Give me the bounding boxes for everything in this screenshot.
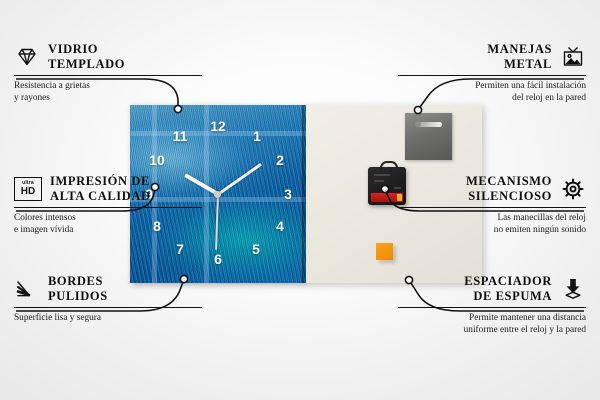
gear-icon xyxy=(560,176,586,202)
callout-mecanismo-silencioso: MECANISMO SILENCIOSO Las manecillas del … xyxy=(398,174,586,236)
callout-vidrio-templado: VIDRIO TEMPLADO Resistencia a grietas y … xyxy=(14,42,202,104)
callout-title-line2: DE ESPUMA xyxy=(464,289,552,304)
minute-hand xyxy=(217,163,261,195)
ultra-hd-badge-icon: ultra HD xyxy=(14,177,42,201)
clock-numeral-12: 12 xyxy=(210,119,226,133)
foam-spacer xyxy=(376,243,393,260)
clock-numeral-6: 6 xyxy=(210,252,226,266)
clock-numeral-1: 1 xyxy=(249,129,265,143)
hanger-keyhole-slot xyxy=(416,122,442,127)
callout-manejas-metal: MANEJAS METAL Permiten una fácil instala… xyxy=(398,42,586,104)
callout-espaciador-espuma: ESPACIADOR DE ESPUMA Permite mantener un… xyxy=(398,274,586,336)
callout-header: VIDRIO TEMPLADO xyxy=(14,42,202,72)
callout-title-line2: TEMPLADO xyxy=(48,57,125,72)
hand-center-cap xyxy=(214,191,221,198)
clock-numeral-2: 2 xyxy=(272,153,288,167)
callout-impresion-alta-calidad: ultra HD IMPRESIÓN DE ALTA CALIDAD Color… xyxy=(14,174,202,236)
callout-title-line1: ESPACIADOR xyxy=(464,274,552,289)
callout-header: ultra HD IMPRESIÓN DE ALTA CALIDAD xyxy=(14,174,202,204)
mechanism-hanging-loop xyxy=(380,161,398,171)
callout-title-line1: IMPRESIÓN DE xyxy=(50,174,151,189)
clock-numeral-5: 5 xyxy=(248,242,264,256)
callout-title: MANEJAS METAL xyxy=(487,42,552,72)
callout-header: MECANISMO SILENCIOSO xyxy=(398,174,586,204)
product-infographic: 12 1 2 3 4 5 6 7 8 9 10 11 xyxy=(0,0,600,400)
pattern-gridline xyxy=(204,105,209,283)
mechanism-detail xyxy=(374,180,384,182)
callout-title: ESPACIADOR DE ESPUMA xyxy=(464,274,552,304)
callout-divider xyxy=(398,75,586,76)
callout-title-line1: BORDES xyxy=(48,274,108,289)
clock-numeral-4: 4 xyxy=(272,219,288,233)
callout-description: Colores intensos e imagen vívida xyxy=(14,212,202,237)
picture-frame-icon xyxy=(560,44,586,70)
callout-description: Permite mantener una distancia uniforme … xyxy=(398,312,586,337)
diamond-icon xyxy=(14,44,40,70)
callout-header: MANEJAS METAL xyxy=(398,42,586,72)
clock-numeral-3: 3 xyxy=(280,187,296,201)
callout-description: Resistencia a grietas y rayones xyxy=(14,80,202,105)
callout-description: Permiten una fácil instalación del reloj… xyxy=(398,80,586,105)
badge-ultra-text: ultra xyxy=(22,181,34,186)
clock-numeral-10: 10 xyxy=(149,153,165,167)
callout-divider xyxy=(398,307,586,308)
polished-edges-icon xyxy=(14,276,40,302)
second-hand xyxy=(215,194,218,250)
callout-title: BORDES PULIDOS xyxy=(48,274,108,304)
callout-title: IMPRESIÓN DE ALTA CALIDAD xyxy=(50,174,151,204)
callout-divider xyxy=(14,75,202,76)
callout-divider xyxy=(398,207,586,208)
callout-title: VIDRIO TEMPLADO xyxy=(48,42,125,72)
callout-bordes-pulidos: BORDES PULIDOS Superficie lisa y segura xyxy=(14,274,202,324)
callout-description: Superficie lisa y segura xyxy=(14,312,202,324)
callout-header: BORDES PULIDOS xyxy=(14,274,202,304)
callout-divider xyxy=(14,207,202,208)
callout-title-line1: MECANISMO xyxy=(466,174,552,189)
clock-numeral-7: 7 xyxy=(172,242,188,256)
callout-title-line2: SILENCIOSO xyxy=(466,189,552,204)
callout-header: ESPACIADOR DE ESPUMA xyxy=(398,274,586,304)
callout-title-line1: MANEJAS xyxy=(487,42,552,57)
badge-hd-text: HD xyxy=(21,187,35,197)
mechanism-detail xyxy=(374,174,390,176)
metal-hanger-plate xyxy=(405,113,452,160)
clock-numeral-11: 11 xyxy=(172,129,188,143)
callout-title-line1: VIDRIO xyxy=(48,42,125,57)
down-arrow-pad-icon xyxy=(560,276,586,302)
callout-description: Las manecillas del reloj no emiten ningú… xyxy=(398,212,586,237)
callout-title-line2: PULIDOS xyxy=(48,289,108,304)
callout-title-line2: METAL xyxy=(487,57,552,72)
callout-title: MECANISMO SILENCIOSO xyxy=(466,174,552,204)
callout-title-line2: ALTA CALIDAD xyxy=(50,189,151,204)
callout-divider xyxy=(14,307,202,308)
